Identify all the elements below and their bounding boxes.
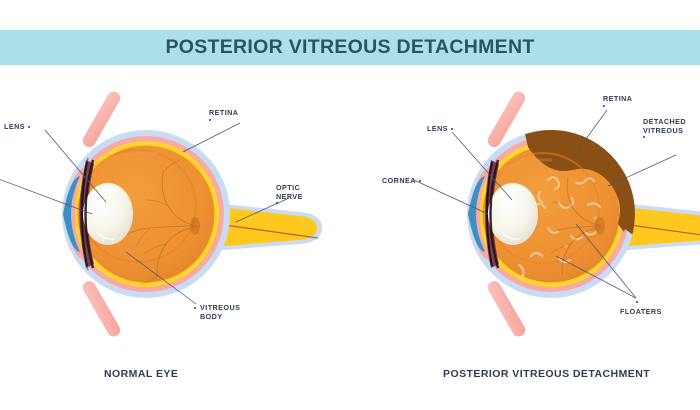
label-marker-dot <box>451 128 453 130</box>
label-optic-nerve-line1: OPTIC <box>276 183 303 192</box>
right-optic-disc <box>595 217 605 235</box>
label-cornea-right-text: CORNEA <box>382 176 416 186</box>
diagram-canvas: POSTERIOR VITREOUS DETACHMENT <box>0 0 700 410</box>
left-optic-disc <box>190 217 200 235</box>
label-detached-vitreous-line1: DETACHED <box>643 117 686 126</box>
label-cornea-right: CORNEA <box>382 176 421 186</box>
left-eye-normal <box>0 89 322 339</box>
label-marker-dot <box>276 202 278 204</box>
right-lens <box>488 183 538 245</box>
eye-illustrations <box>0 0 700 410</box>
caption-posterior-vitreous-detachment: POSTERIOR VITREOUS DETACHMENT <box>443 368 650 380</box>
label-lens-right: LENS <box>427 124 453 134</box>
label-retina-left: RETINA <box>209 108 238 121</box>
label-retina-right-text: RETINA <box>603 94 632 103</box>
label-marker-dot <box>603 105 605 107</box>
label-marker-dot <box>209 119 211 121</box>
caption-normal-eye: NORMAL EYE <box>104 368 178 380</box>
label-detached-vitreous: DETACHED VITREOUS <box>643 117 686 138</box>
label-lens-left: LENS <box>4 122 30 132</box>
label-marker-dot <box>636 301 638 303</box>
label-lens-right-text: LENS <box>427 124 448 134</box>
label-marker-dot <box>419 180 421 182</box>
label-floaters-text: FLOATERS <box>620 307 662 316</box>
label-retina-left-text: RETINA <box>209 108 238 117</box>
label-vitreous-body-line2: BODY <box>200 312 240 321</box>
label-floaters: FLOATERS <box>620 307 662 317</box>
label-marker-dot <box>28 126 30 128</box>
label-vitreous-body-left: VITREOUS BODY <box>200 303 240 321</box>
label-optic-nerve-line2: NERVE <box>276 192 303 201</box>
label-vitreous-body-line1: VITREOUS <box>200 303 240 312</box>
label-retina-right: RETINA <box>603 94 632 107</box>
label-lens-left-text: LENS <box>4 122 25 132</box>
label-marker-dot <box>643 136 645 138</box>
left-lens <box>83 183 133 245</box>
label-detached-vitreous-line2: VITREOUS <box>643 126 686 135</box>
label-optic-nerve-left: OPTIC NERVE <box>276 183 303 204</box>
label-marker-dot <box>194 307 196 309</box>
